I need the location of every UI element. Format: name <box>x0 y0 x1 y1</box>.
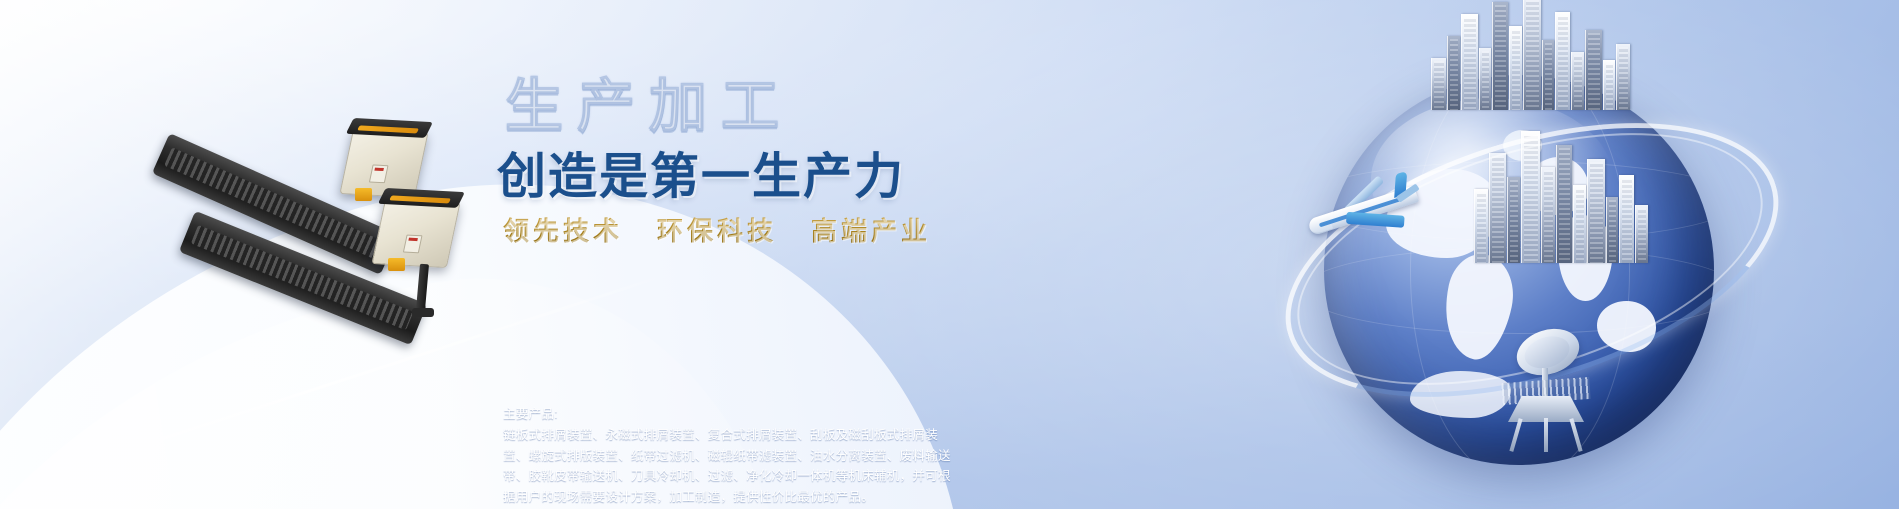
keyword-item-2: 环保科技 <box>657 211 777 248</box>
keyword-item-1: 领先技术 <box>503 211 623 248</box>
satellite-leg <box>1509 418 1522 452</box>
support-foot <box>412 308 434 317</box>
satellite-dish <box>1511 321 1585 383</box>
conveyor-head-housing <box>371 198 460 268</box>
ghost-heading: 生产加工 <box>497 78 967 136</box>
control-box-icon <box>355 188 372 201</box>
warning-label-icon <box>403 235 423 254</box>
conveyor-head-housing <box>339 128 428 198</box>
product-description: 主要产品: 链板式排屑装置、永磁式排屑装置、复合式排屑装置、刮板及磁刮板式排屑装… <box>503 404 963 507</box>
airplane-wing <box>1346 212 1405 228</box>
satellite-icon <box>1464 320 1624 460</box>
building <box>1555 12 1570 110</box>
building <box>1447 36 1460 110</box>
control-box-icon <box>388 258 405 271</box>
promo-banner: 生产加工 创造是第一生产力 领先技术 环保科技 高端产业 主要产品: 链板式排屑… <box>0 0 1899 509</box>
keyword-item-3: 高端产业 <box>811 211 931 248</box>
keyword-list: 领先技术 环保科技 高端产业 <box>503 211 967 248</box>
building <box>1461 14 1478 110</box>
banner-headline: 创造是第一生产力 <box>497 152 967 203</box>
description-lead: 主要产品: <box>503 404 963 424</box>
building <box>1431 58 1446 110</box>
building <box>1492 2 1508 110</box>
description-body: 链板式排屑装置、永磁式排屑装置、复合式排屑装置、刮板及磁刮板式排屑装置、螺旋式排… <box>503 428 951 503</box>
city-skyline-top <box>1429 0 1639 110</box>
building <box>1523 0 1541 110</box>
support-leg <box>416 264 429 311</box>
warning-label-icon <box>369 164 389 183</box>
satellite-leg <box>1569 418 1582 452</box>
chip-conveyor-machines <box>150 120 480 330</box>
satellite-leg <box>1544 418 1548 452</box>
banner-copy: 生产加工 创造是第一生产力 领先技术 环保科技 高端产业 <box>497 78 967 248</box>
earth-globe-graphic <box>1269 0 1789 509</box>
